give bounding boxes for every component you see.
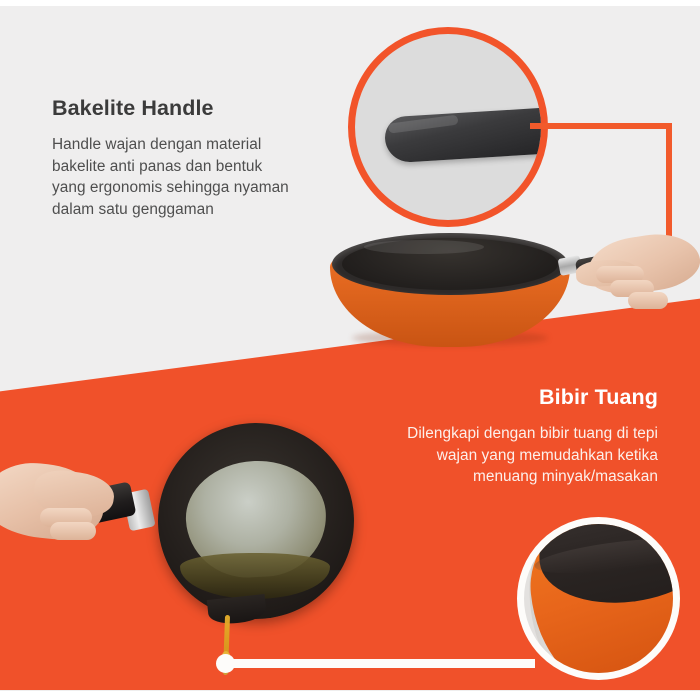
feature-heading-bibir-tuang: Bibir Tuang bbox=[539, 385, 658, 410]
callout-image-pour-spout bbox=[524, 524, 673, 673]
connector-top-horizontal bbox=[530, 123, 672, 129]
hand-top-finger bbox=[628, 292, 668, 309]
feature-body-line: yang ergonomis sehingga nyaman bbox=[52, 177, 342, 199]
feature-body-line: Handle wajan dengan material bbox=[52, 134, 342, 156]
photo-pan-upright bbox=[330, 233, 580, 351]
feature-body-line: wajan yang memudahkan ketika bbox=[348, 445, 658, 467]
feature-body-line: Dilengkapi dengan bibir tuang di tepi bbox=[348, 423, 658, 445]
product-infographic: Bakelite Handle Handle wajan dengan mate… bbox=[0, 0, 700, 700]
feature-body-line: dalam satu genggaman bbox=[52, 199, 342, 221]
top-white-border bbox=[0, 0, 700, 6]
bottom-white-border bbox=[0, 691, 700, 700]
feature-body-line: menuang minyak/masakan bbox=[348, 466, 658, 488]
pan-tilted-pour-spout bbox=[207, 594, 267, 626]
photo-hand-holding-upright-pan bbox=[566, 236, 700, 308]
handle-tip-shape bbox=[384, 107, 548, 164]
connector-bottom-horizontal bbox=[225, 659, 535, 668]
pan-upright-highlight bbox=[364, 240, 484, 254]
feature-body-line: bakelite anti panas dan bentuk bbox=[52, 156, 342, 178]
photo-pan-pouring-oil bbox=[150, 415, 380, 645]
photo-hand-holding-tilted-pan bbox=[0, 456, 150, 552]
feature-body-bakelite-handle: Handle wajan dengan material bakelite an… bbox=[52, 134, 342, 220]
hand-bottom-finger bbox=[50, 522, 96, 540]
feature-body-bibir-tuang: Dilengkapi dengan bibir tuang di tepi wa… bbox=[348, 423, 658, 488]
callout-circle-pour-spout bbox=[517, 517, 680, 680]
feature-heading-bakelite-handle: Bakelite Handle bbox=[52, 96, 214, 121]
callout-image-handle-tip bbox=[355, 34, 541, 220]
callout-circle-handle-tip bbox=[348, 27, 548, 227]
